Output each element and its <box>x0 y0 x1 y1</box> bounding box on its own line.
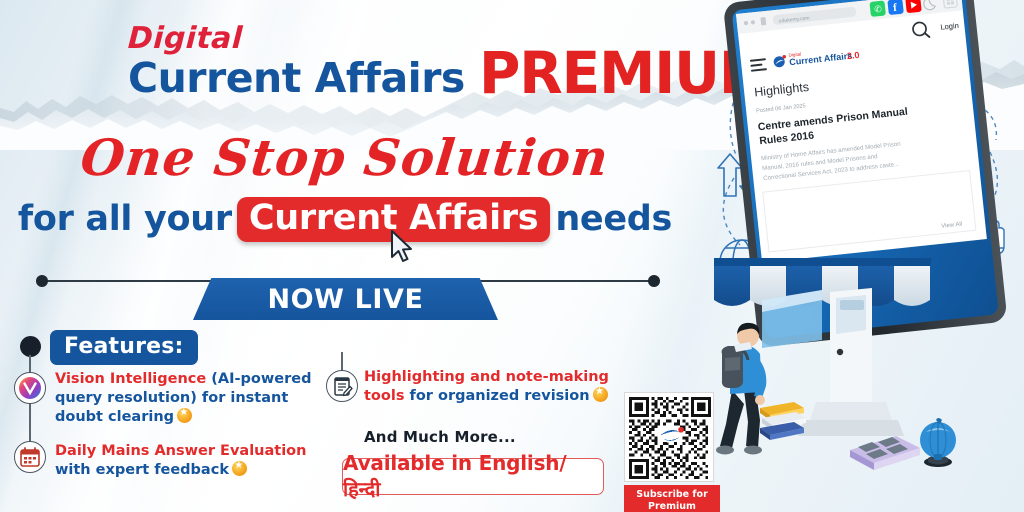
svg-text:Login: Login <box>940 21 959 32</box>
feature-1-strong: Vision Intelligence <box>55 371 206 387</box>
svg-text:✆: ✆ <box>874 4 883 15</box>
tablet-illustration: edukemy.com ✆ f Login Login <box>700 0 1024 512</box>
vision-ai-icon <box>14 372 46 404</box>
features-badge: Features: <box>50 330 198 365</box>
hero-script-line: One Stop Solution <box>78 132 611 185</box>
divider-dot-right <box>648 275 660 287</box>
mouse-cursor-icon <box>389 230 417 264</box>
feature-3-rest: for organized revision <box>404 388 589 404</box>
feature-item-2: Daily Mains Answer Evaluation with exper… <box>55 442 327 480</box>
star-icon <box>177 408 192 423</box>
hero-subline-prefix: for all your <box>18 199 232 239</box>
and-much-more-text: And Much More... <box>364 428 516 446</box>
calendar-icon <box>14 441 46 473</box>
feature-item-1: Vision Intelligence (AI-powered query re… <box>55 370 327 427</box>
banner-header: Digital Current Affairs PREMIUM <box>128 24 740 99</box>
language-availability-label: Available in English/हिन्दी <box>343 451 603 502</box>
features-stem <box>341 352 343 372</box>
star-icon <box>593 387 608 402</box>
header-title: Current Affairs <box>128 58 465 99</box>
hero-subline: for all your Current Affairs needs <box>0 197 690 242</box>
hero-subline-suffix: needs <box>555 199 672 239</box>
now-live-label: NOW LIVE <box>267 284 423 315</box>
hero-section: One Stop Solution for all your Current A… <box>0 132 690 242</box>
promo-banner: Digital Current Affairs PREMIUM One Stop… <box>0 0 1024 512</box>
divider-dot-left <box>36 275 48 287</box>
features-bullet-dot <box>20 336 41 357</box>
star-icon <box>232 461 247 476</box>
feature-item-3: Highlighting and note-making tools for o… <box>364 368 614 406</box>
notes-icon <box>326 370 358 402</box>
svg-text:2.0: 2.0 <box>846 50 859 61</box>
now-live-row: NOW LIVE <box>0 262 690 318</box>
language-availability-box: Available in English/हिन्दी <box>342 458 604 495</box>
feature-2-rest: with expert feedback <box>55 462 229 478</box>
feature-2-strong: Daily Mains Answer Evaluation <box>55 443 306 459</box>
now-live-ribbon: NOW LIVE <box>193 278 498 320</box>
